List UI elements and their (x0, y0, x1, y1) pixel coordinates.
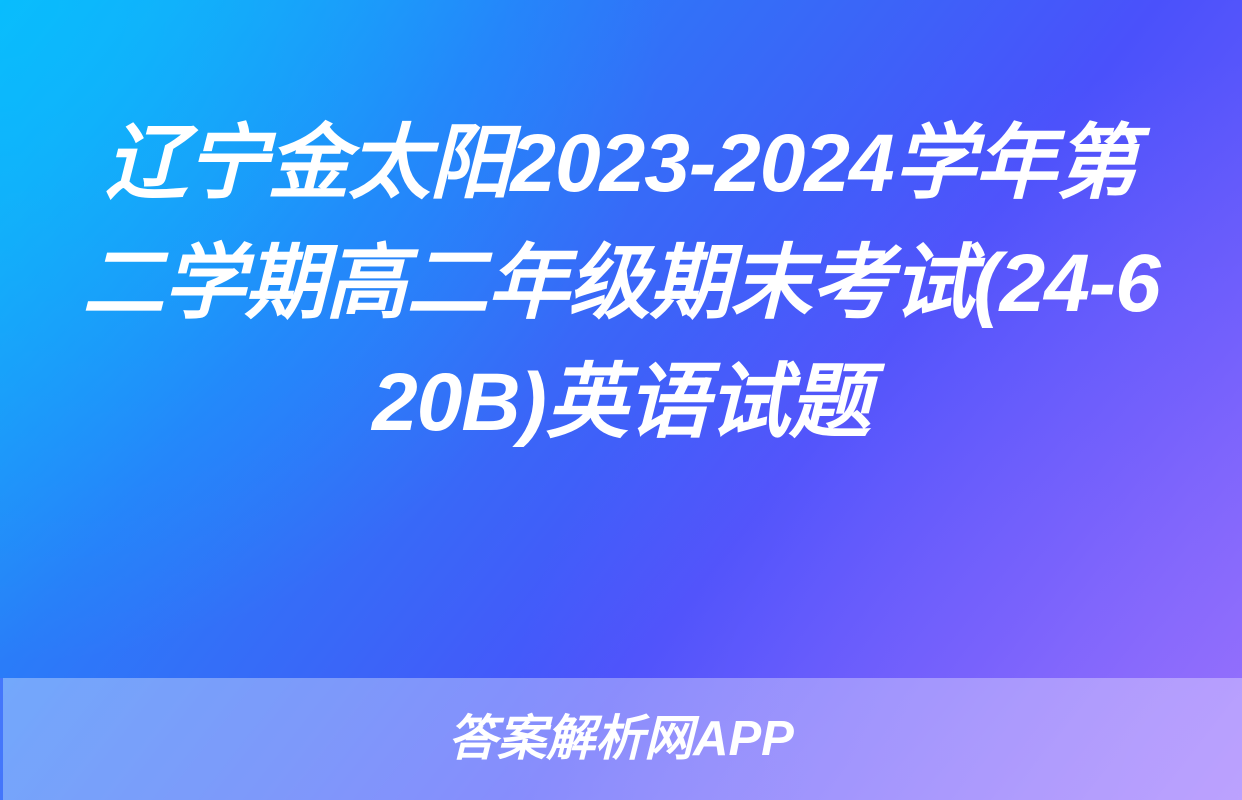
band-left-edge-accent (0, 678, 3, 800)
watermark-band: 答案解析网APP (0, 678, 1242, 800)
page-title-block: 辽宁金太阳2023-2024学年第二学期高二年级期末考试(24-620B)英语试… (0, 104, 1242, 463)
exam-cover-card: 辽宁金太阳2023-2024学年第二学期高二年级期末考试(24-620B)英语试… (0, 0, 1242, 800)
watermark-brand-label: 答案解析网APP (448, 715, 794, 764)
page-title: 辽宁金太阳2023-2024学年第二学期高二年级期末考试(24-620B)英语试… (74, 104, 1168, 463)
